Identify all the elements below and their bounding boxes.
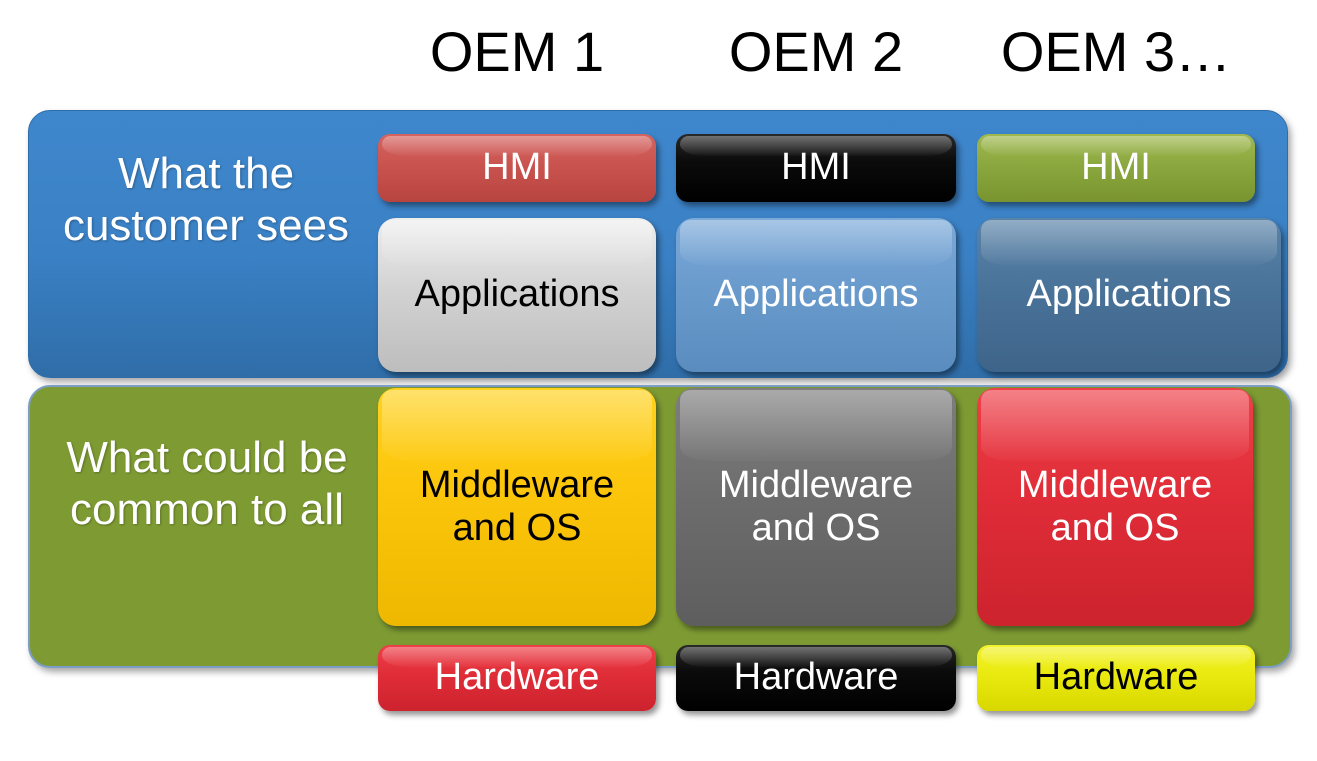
box-hardware-oem-2[interactable]: Hardware xyxy=(676,645,956,711)
box-highlight xyxy=(981,220,1277,266)
box-label: Applications xyxy=(708,273,925,316)
box-hardware-oem-3[interactable]: Hardware xyxy=(977,645,1255,711)
box-label: Hardware xyxy=(728,656,905,699)
box-hardware-oem-1[interactable]: Hardware xyxy=(378,645,656,711)
column-header-oem-3: OEM 3… xyxy=(977,14,1255,90)
box-label: Hardware xyxy=(1028,656,1205,699)
box-label: Middleware and OS xyxy=(977,464,1253,551)
box-highlight xyxy=(680,220,952,266)
box-highlight xyxy=(981,390,1249,461)
box-highlight xyxy=(382,220,652,266)
panel-label-common-to-all: What could be common to all xyxy=(46,432,368,536)
box-hmi-oem-2[interactable]: HMI xyxy=(676,134,956,202)
box-hmi-oem-3[interactable]: HMI xyxy=(977,134,1255,202)
box-highlight xyxy=(382,390,652,461)
box-middleware-oem-2[interactable]: Middleware and OS xyxy=(676,388,956,626)
box-label: HMI xyxy=(476,146,558,189)
panel-label-customer-sees: What the customer sees xyxy=(52,148,360,252)
diagram-canvas: OEM 1 OEM 2 OEM 3… What the customer see… xyxy=(0,0,1317,761)
box-label: Hardware xyxy=(429,656,606,699)
box-applications-oem-3[interactable]: Applications xyxy=(977,218,1281,372)
box-applications-oem-2[interactable]: Applications xyxy=(676,218,956,372)
box-label: HMI xyxy=(1075,146,1157,189)
box-label: Applications xyxy=(1021,273,1238,316)
box-applications-oem-1[interactable]: Applications xyxy=(378,218,656,372)
box-label: Middleware and OS xyxy=(676,464,956,551)
box-label: HMI xyxy=(775,146,857,189)
box-highlight xyxy=(680,390,952,461)
column-header-oem-1: OEM 1 xyxy=(378,14,656,90)
box-hmi-oem-1[interactable]: HMI xyxy=(378,134,656,202)
box-label: Middleware and OS xyxy=(378,464,656,551)
box-middleware-oem-1[interactable]: Middleware and OS xyxy=(378,388,656,626)
box-label: Applications xyxy=(409,273,626,316)
column-header-oem-2: OEM 2 xyxy=(676,14,956,90)
box-middleware-oem-3[interactable]: Middleware and OS xyxy=(977,388,1253,626)
